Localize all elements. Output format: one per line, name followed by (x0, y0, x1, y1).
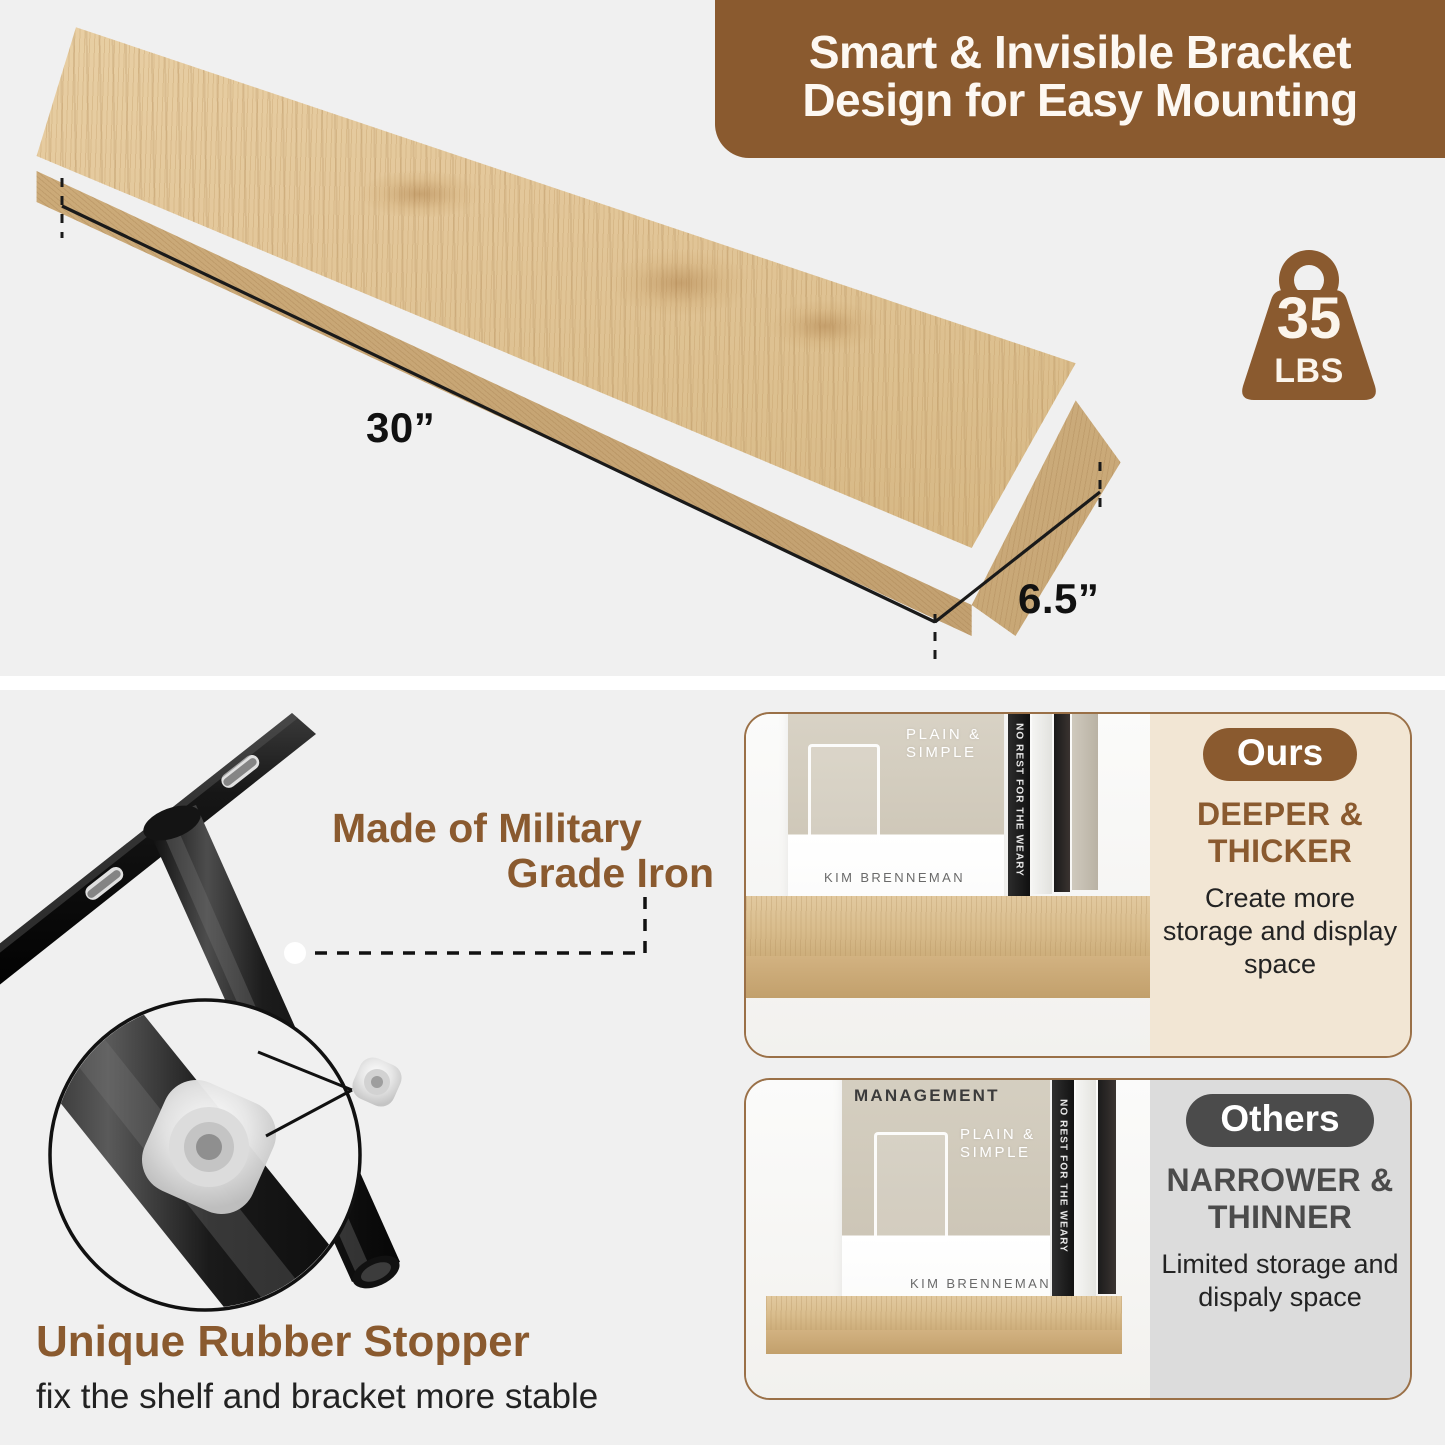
shelf-dimensions-panel: 30” 6.5” 35 LBS Smart & Invisible Bracke… (0, 0, 1445, 676)
bracket-mounting-plate (0, 713, 316, 1012)
header-banner: Smart & Invisible Bracket Design for Eas… (715, 0, 1445, 158)
chair-illustration (874, 1132, 948, 1242)
book-spine-text: NO REST FOR THE WEARY (1058, 1099, 1069, 1253)
book-title: PLAIN & SIMPLE (960, 1126, 1036, 1163)
military-callout-line2: Grade Iron (332, 851, 714, 896)
book-title-sub: MANAGEMENT (854, 1086, 1000, 1106)
others-headline: NARROWER & THINNER (1167, 1162, 1394, 1236)
weight-capacity-badge: 35 LBS (1234, 246, 1384, 404)
ours-shelf-photo: PLAIN & SIMPLE KIM BRENNEMAN NO REST FOR… (746, 714, 1150, 1056)
book-spine-text: NO REST FOR THE WEARY (1014, 723, 1025, 877)
chair-illustration (808, 744, 880, 840)
bracket-callout-dot (284, 942, 306, 964)
comparison-card-ours: PLAIN & SIMPLE KIM BRENNEMAN NO REST FOR… (744, 712, 1412, 1058)
book-spine-dark2 (1098, 1080, 1116, 1294)
rubber-stopper-title: Unique Rubber Stopper (36, 1318, 736, 1366)
others-shelf-photo: HOME MANAGEMENT PLAIN & SIMPLE KIM BRENN… (746, 1080, 1150, 1398)
shelf-board-edge (766, 1330, 1122, 1354)
ours-badge: Ours (1203, 728, 1357, 781)
book-title-top: HOME (854, 1080, 914, 1082)
weight-icon (1234, 246, 1384, 404)
book-author: KIM BRENNEMAN (824, 870, 965, 885)
shelf-board-edge (746, 956, 1150, 998)
others-headline-line1: NARROWER & (1167, 1162, 1394, 1198)
ours-headline-line2: THICKER (1208, 833, 1352, 869)
book-spine-dark: NO REST FOR THE WEARY (1052, 1080, 1074, 1298)
shelf-board-top (746, 896, 1150, 956)
bracket-illustration (0, 690, 730, 1330)
shelf-width-label: 30” (366, 404, 435, 452)
ours-headline: DEEPER & THICKER (1197, 796, 1363, 870)
others-text-side: Others NARROWER & THINNER Limited storag… (1150, 1080, 1410, 1398)
others-badge: Others (1186, 1094, 1373, 1147)
book-spine-dark2 (1054, 714, 1070, 892)
wall-bracket-icon (0, 690, 730, 1330)
rubber-stopper-subtitle: fix the shelf and bracket more stable (36, 1377, 756, 1417)
book-title-line2: SIMPLE (906, 744, 977, 761)
book-spine-light (1076, 1080, 1096, 1296)
ours-text-side: Ours DEEPER & THICKER Create more storag… (1150, 714, 1410, 1056)
comparison-card-others: HOME MANAGEMENT PLAIN & SIMPLE KIM BRENN… (744, 1078, 1412, 1400)
book-spine-dark: NO REST FOR THE WEARY (1008, 714, 1030, 896)
book-title-line1: PLAIN & (906, 726, 982, 743)
header-title-line1: Smart & Invisible Bracket (809, 29, 1351, 77)
book-spine-gray (1072, 714, 1098, 890)
rubber-stopper-on-rod (348, 1053, 406, 1111)
ours-body-text: Create more storage and display space (1160, 882, 1400, 981)
panel-divider (0, 676, 1445, 690)
book-spine-light (1032, 714, 1052, 894)
book-title-line1: PLAIN & (960, 1126, 1036, 1143)
shelf-board-top (766, 1296, 1122, 1330)
width-dimension-line (62, 206, 935, 622)
military-grade-callout: Made of Military Grade Iron (332, 806, 714, 896)
bracket-callout-leader (315, 893, 645, 953)
book-author: KIM BRENNEMAN (910, 1276, 1051, 1291)
others-headline-line2: THINNER (1208, 1199, 1352, 1235)
book-title: PLAIN & SIMPLE (906, 726, 982, 763)
book-title-line2: SIMPLE (960, 1144, 1031, 1161)
military-callout-line1: Made of Military (332, 806, 714, 851)
book-title-home: HOME (854, 1080, 914, 1081)
ours-headline-line1: DEEPER & (1197, 796, 1363, 832)
others-body-text: Limited storage and dispaly space (1160, 1248, 1400, 1314)
shelf-depth-label: 6.5” (1018, 575, 1099, 623)
header-title-line2: Design for Easy Mounting (802, 77, 1357, 125)
